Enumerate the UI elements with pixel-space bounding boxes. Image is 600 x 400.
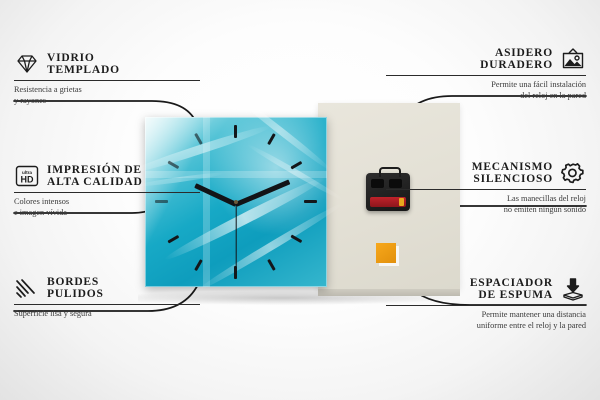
feature-desc-line2: no emiten ningún sonido <box>386 205 586 216</box>
second-hand <box>235 203 236 269</box>
feature-desc-line1: Superficie lisa y segura <box>14 309 200 320</box>
feature-divider <box>14 192 200 193</box>
hour-hand <box>194 183 237 207</box>
feature-title-line2: PULIDOS <box>47 288 104 300</box>
feature-asidero-duradero: ASIDERO DURADERO Permite una fácil insta… <box>386 47 586 102</box>
feature-title-line2: ALTA CALIDAD <box>47 176 143 188</box>
feature-title-line1: IMPRESIÓN DE <box>47 164 143 176</box>
feature-vidrio-templado: VIDRIO TEMPLADO Resistencia a grietas y … <box>14 52 200 107</box>
feature-title-line2: TEMPLADO <box>47 64 120 76</box>
feature-desc-line2: e imagen vívida <box>14 208 200 219</box>
hour-tick <box>267 133 275 145</box>
foam-spacer <box>376 243 396 263</box>
feature-mecanismo-silencioso: MECANISMO SILENCIOSO Las manecillas del … <box>386 161 586 216</box>
feature-desc-line2: uniforme entre el reloj y la pared <box>386 321 586 332</box>
feature-desc-line1: Resistencia a grietas <box>14 85 200 96</box>
feature-header: MECANISMO SILENCIOSO <box>386 161 586 186</box>
feature-title-line2: SILENCIOSO <box>472 173 553 185</box>
feature-divider <box>14 304 200 305</box>
feature-title-line1: MECANISMO <box>472 161 553 173</box>
hour-tick <box>194 259 202 271</box>
badge-large-label: HD <box>21 175 34 185</box>
infographic-canvas: VIDRIO TEMPLADO Resistencia a grietas y … <box>0 0 600 400</box>
feature-title-line1: VIDRIO <box>47 52 120 64</box>
feature-desc-line1: Permite mantener una distancia <box>386 310 586 321</box>
feature-title-line2: DURADERO <box>480 59 553 71</box>
diamond-icon <box>14 52 40 76</box>
feature-titles: IMPRESIÓN DE ALTA CALIDAD <box>47 164 143 189</box>
feature-header: VIDRIO TEMPLADO <box>14 52 200 77</box>
feature-espaciador-de-espuma: ESPACIADOR DE ESPUMA Permite mantener un… <box>386 277 586 332</box>
feature-titles: VIDRIO TEMPLADO <box>47 52 120 77</box>
feature-desc-line2: y rayones <box>14 96 200 107</box>
feature-divider <box>14 80 200 81</box>
feature-titles: MECANISMO SILENCIOSO <box>472 161 553 186</box>
feature-divider <box>386 305 586 306</box>
clock-center-pivot <box>234 200 238 204</box>
feature-desc-line1: Permite una fácil instalación <box>386 80 586 91</box>
feature-title-line1: ASIDERO <box>480 47 553 59</box>
hour-tick <box>167 235 179 243</box>
hour-tick <box>290 235 302 243</box>
feature-title-line2: DE ESPUMA <box>470 289 553 301</box>
feature-header: ASIDERO DURADERO <box>386 47 586 72</box>
feature-desc-line1: Las manecillas del reloj <box>386 194 586 205</box>
feature-header: BORDES PULIDOS <box>14 276 200 301</box>
feature-desc-line1: Colores intensos <box>14 197 200 208</box>
feature-title-line1: BORDES <box>47 276 104 288</box>
polished-edges-icon <box>14 276 40 300</box>
feature-title-line1: ESPACIADOR <box>470 277 553 289</box>
feature-divider <box>386 75 586 76</box>
hour-tick <box>304 200 317 203</box>
hour-tick <box>290 161 302 169</box>
feature-divider <box>386 189 586 190</box>
feature-desc-line2: del reloj en la pared <box>386 91 586 102</box>
hour-tick <box>234 125 237 138</box>
feature-titles: ESPACIADOR DE ESPUMA <box>470 277 553 302</box>
gear-icon <box>560 161 586 185</box>
feature-bordes-pulidos: BORDES PULIDOS Superficie lisa y segura <box>14 276 200 320</box>
foam-spacer-icon <box>560 277 586 301</box>
feature-header: ultra HD IMPRESIÓN DE ALTA CALIDAD <box>14 164 200 189</box>
feature-titles: ASIDERO DURADERO <box>480 47 553 72</box>
feature-header: ESPACIADOR DE ESPUMA <box>386 277 586 302</box>
hour-tick <box>267 259 275 271</box>
feature-impresion-alta-calidad: ultra HD IMPRESIÓN DE ALTA CALIDAD Color… <box>14 164 200 219</box>
feature-titles: BORDES PULIDOS <box>47 276 104 301</box>
picture-hanger-icon <box>560 47 586 71</box>
ultra-hd-badge-icon: ultra HD <box>14 164 40 188</box>
mechanism-slot-left <box>371 179 384 188</box>
hour-tick <box>194 133 202 145</box>
